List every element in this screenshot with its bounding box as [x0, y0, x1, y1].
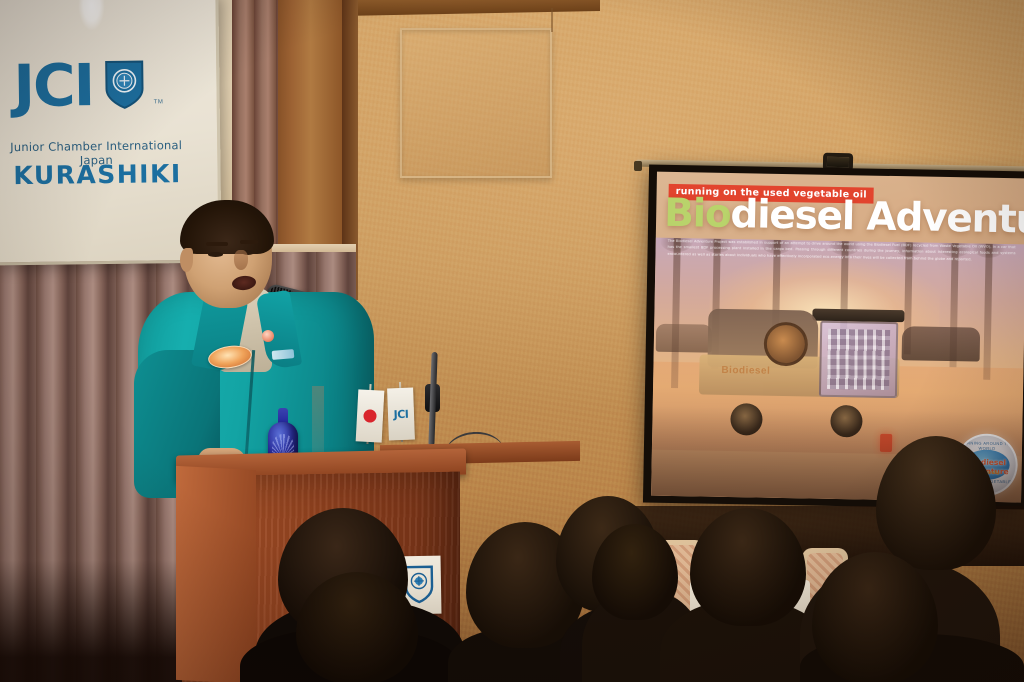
presenter-nose: [234, 250, 248, 270]
presenter-pin-badge: [262, 330, 274, 342]
truck-decal: Biodiesel: [721, 365, 770, 377]
jci-shield-icon: [404, 565, 435, 606]
presenter-hair: [180, 200, 274, 254]
jci-logo: JCI: [13, 56, 145, 116]
presenter-eye: [208, 252, 223, 257]
wall-panel-hanger: [551, 8, 553, 32]
bdf-plant-detail: [827, 329, 890, 390]
slide-title: Biodiesel Adventure: [664, 194, 1024, 241]
flag-japan: [356, 389, 385, 442]
palm-tree: [983, 244, 992, 380]
flag-japan-sun-icon: [363, 409, 377, 423]
jci-logo-text: JCI: [13, 56, 93, 115]
presenter-eyebrow: [206, 242, 228, 246]
slide-title-rest: diesel Adventure: [730, 192, 1024, 243]
banner-glare: [78, 0, 105, 30]
bdf-processing-plant: [819, 321, 898, 398]
presenter-eyebrow: [240, 240, 258, 244]
podium-side-panel: [176, 466, 256, 682]
screen-bar-knob: [634, 161, 642, 171]
presenter-shirt-fold: [312, 386, 324, 452]
jci-city: KURASHIKI: [6, 159, 188, 190]
jci-shield-icon: [103, 59, 146, 112]
flag-jci: JCI: [387, 388, 415, 441]
jci-trademark: TM: [154, 99, 164, 105]
presenter: [140, 200, 370, 470]
flag-jci-label: JCI: [393, 407, 408, 421]
slide-title-bio: Bio: [664, 191, 731, 237]
presentation-photo: JCI TM Junior Chamber International Japa…: [0, 0, 1024, 682]
presenter-name-tag: [272, 349, 295, 360]
wall-framed-panel: [400, 28, 552, 178]
presenter-ear: [180, 248, 193, 272]
